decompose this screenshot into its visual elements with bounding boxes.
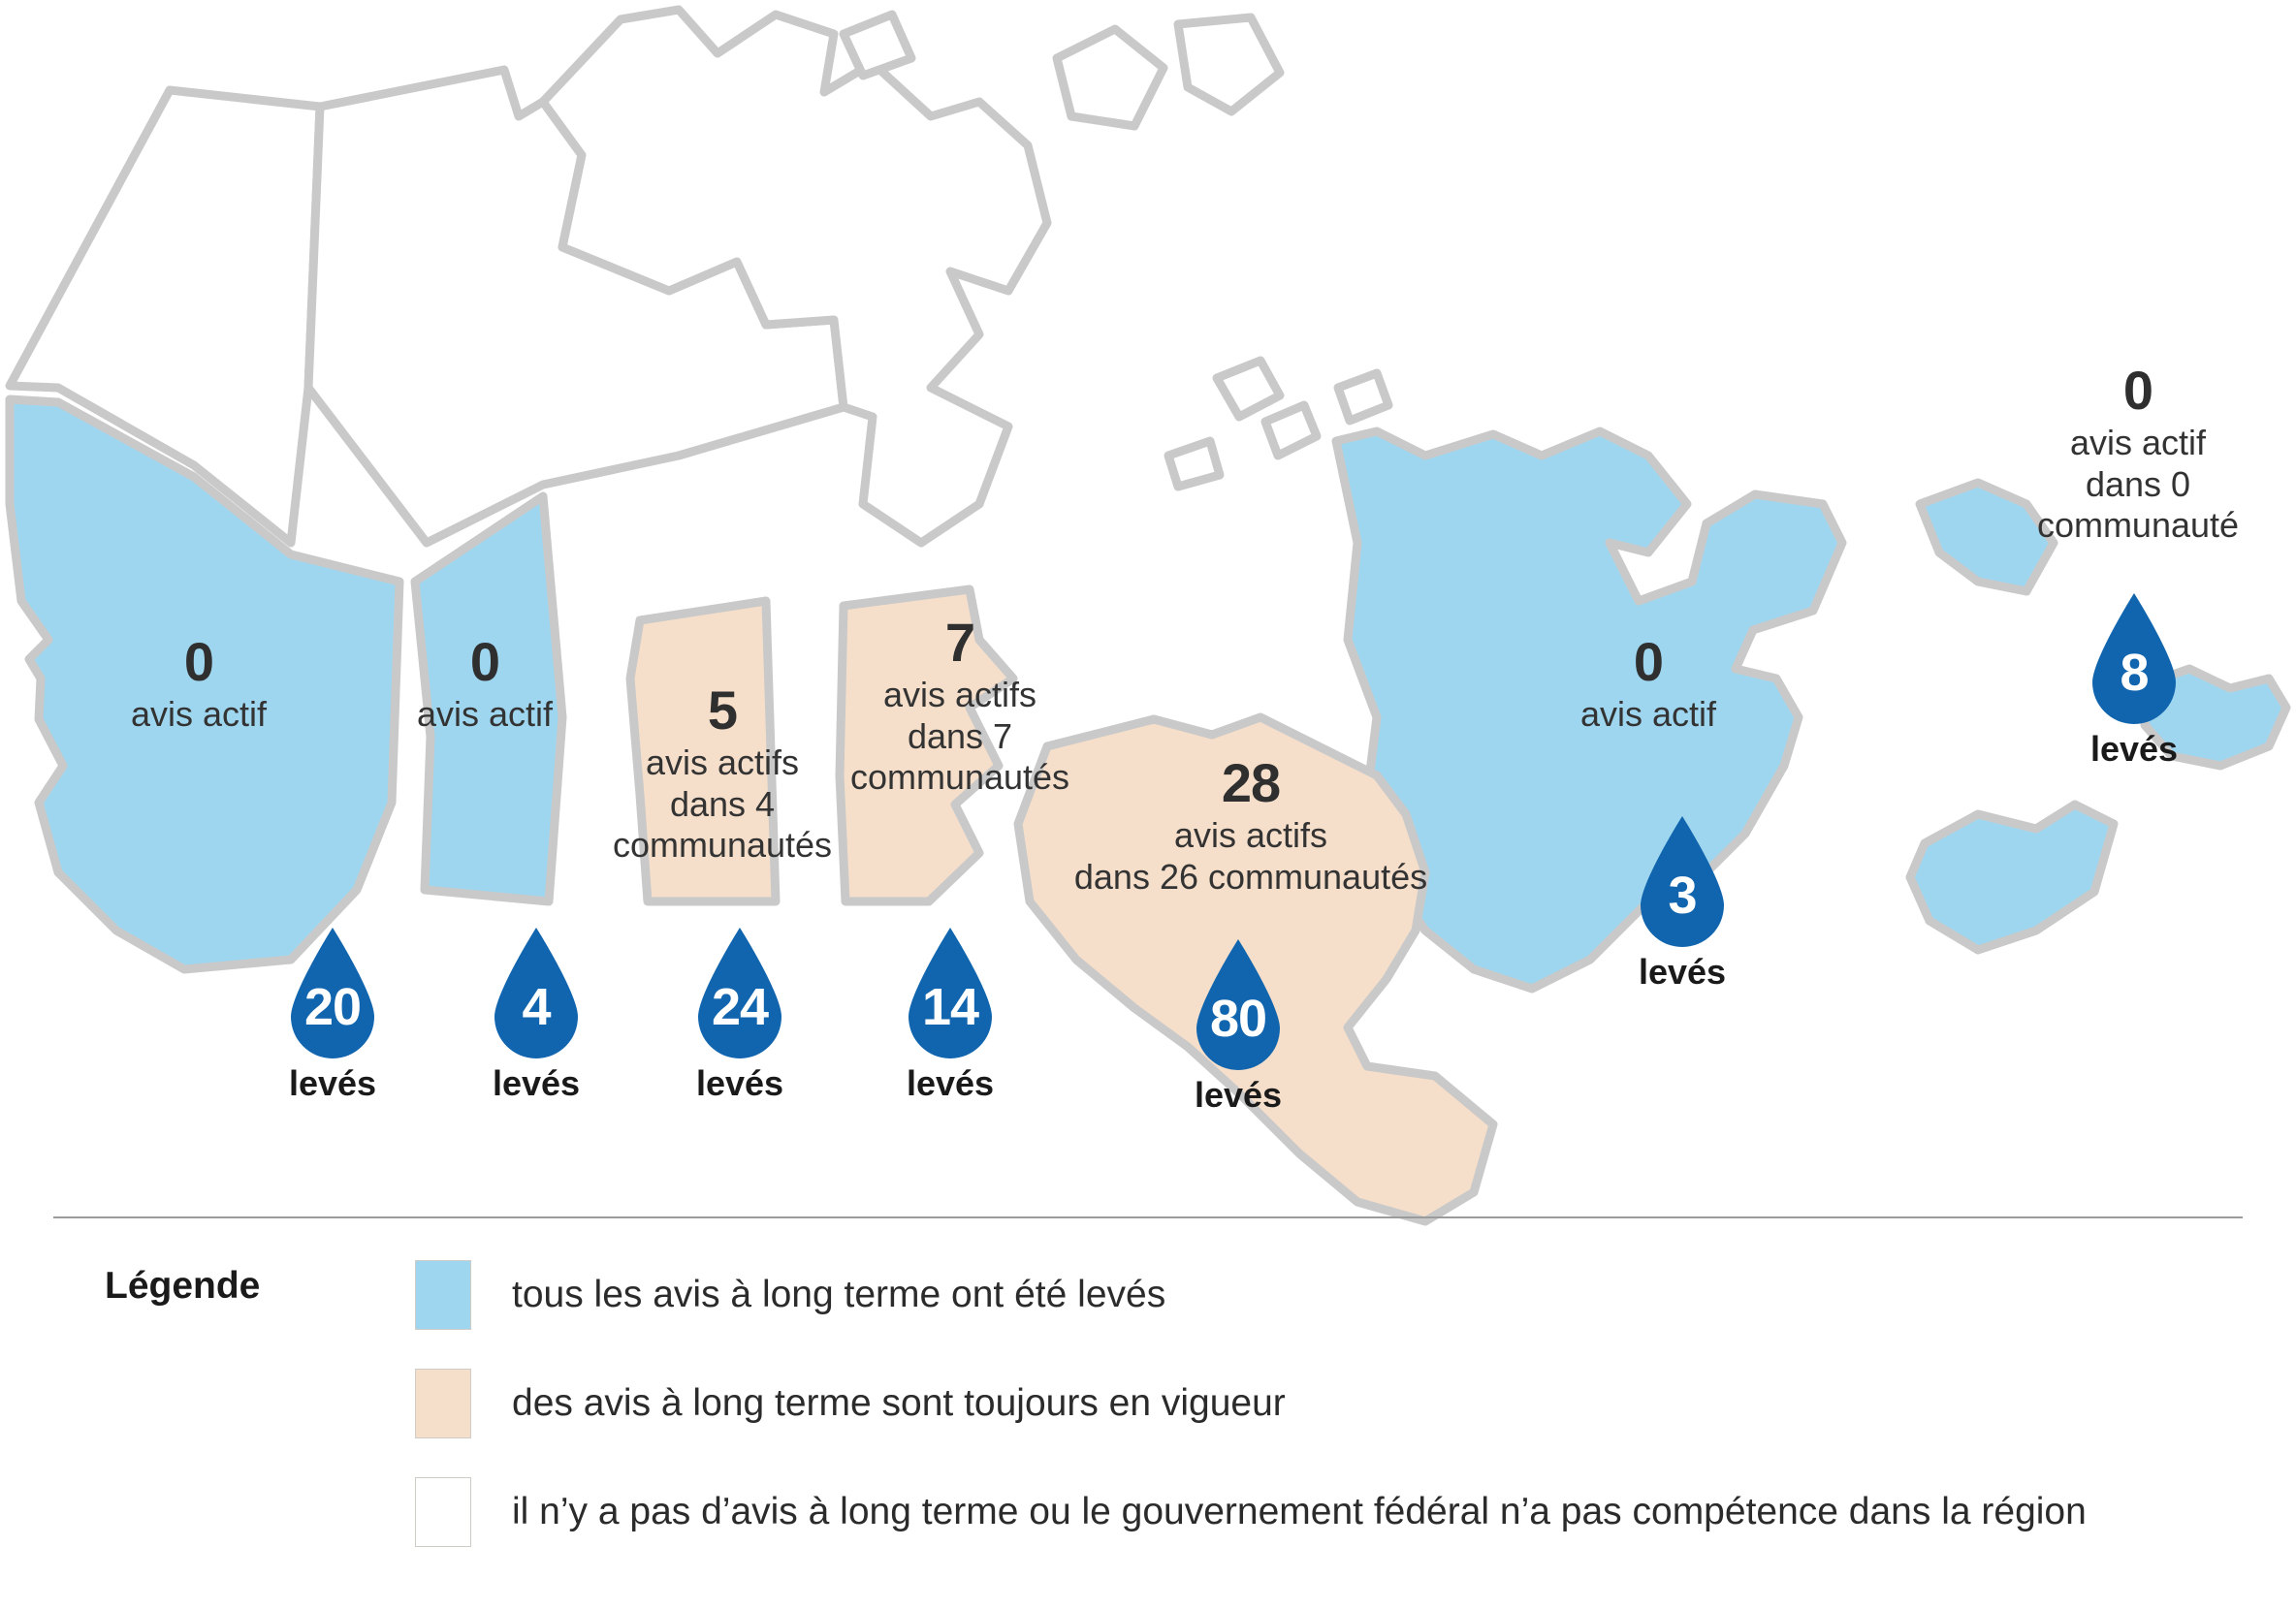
water-drop-icon: 24: [686, 924, 793, 1061]
region-alberta-spacer: [415, 496, 562, 901]
water-drop-icon: 3: [1629, 812, 1736, 950]
region-nunavut-island-f: [1338, 373, 1388, 421]
region-nunavut-island-g: [1168, 441, 1220, 487]
mb-lifted-count: 14: [897, 924, 1004, 1061]
droplet-marker-manitoba: 14 levés: [897, 924, 1004, 1104]
region-nunavut-island-e: [1265, 405, 1317, 456]
water-drop-icon: 80: [1185, 935, 1291, 1073]
region-british-columbia: [10, 399, 399, 969]
region-maritimes: [1910, 805, 2114, 950]
legend-item-resolved: tous les avis à long terme ont été levés: [415, 1260, 1165, 1330]
legend-item-active: des avis à long terme sont toujours en v…: [415, 1369, 1286, 1438]
ab-lifted-label: levés: [483, 1063, 590, 1104]
legend-label-none: il n’y a pas d’avis à long terme ou le g…: [512, 1491, 2087, 1533]
legend-item-none: il n’y a pas d’avis à long terme ou le g…: [415, 1477, 2087, 1547]
bc-lifted-count: 20: [279, 924, 386, 1061]
droplet-marker-quebec: 3 levés: [1629, 812, 1736, 993]
legend-swatch-none: [415, 1477, 471, 1547]
on-lifted-label: levés: [1185, 1075, 1291, 1116]
region-nunavut-island-b: [1178, 17, 1280, 111]
sk-lifted-label: levés: [686, 1063, 793, 1104]
water-drop-icon: 14: [897, 924, 1004, 1061]
region-manitoba: [840, 589, 1013, 901]
legend-divider: [53, 1216, 2243, 1218]
atl-lifted-label: levés: [2081, 729, 2187, 770]
sk-lifted-count: 24: [686, 924, 793, 1061]
water-drop-icon: 20: [279, 924, 386, 1061]
qc-lifted-label: levés: [1629, 952, 1736, 993]
on-lifted-count: 80: [1185, 935, 1291, 1073]
water-drop-icon: 8: [2081, 589, 2187, 727]
bc-lifted-label: levés: [279, 1063, 386, 1104]
region-saskatchewan: [630, 601, 776, 901]
region-labrador: [1920, 483, 2054, 591]
region-nunavut-island-a: [1057, 29, 1164, 126]
region-nunavut-island-c: [844, 15, 911, 76]
atl-lifted-count: 8: [2081, 589, 2187, 727]
mb-lifted-label: levés: [897, 1063, 1004, 1104]
droplet-marker-alberta: 4 levés: [483, 924, 590, 1104]
qc-lifted-count: 3: [1629, 812, 1736, 950]
water-drop-icon: 4: [483, 924, 590, 1061]
legend-title: Légende: [105, 1265, 260, 1308]
droplet-marker-british-columbia: 20 levés: [279, 924, 386, 1104]
region-nunavut-island-d: [1217, 361, 1280, 417]
legend-label-active: des avis à long terme sont toujours en v…: [512, 1382, 1286, 1425]
legend-swatch-active: [415, 1369, 471, 1438]
droplet-marker-ontario: 80 levés: [1185, 935, 1291, 1116]
droplet-marker-atlantic: 8 levés: [2081, 589, 2187, 770]
legend-swatch-resolved: [415, 1260, 471, 1330]
legend-label-resolved: tous les avis à long terme ont été levés: [512, 1274, 1165, 1316]
droplet-marker-saskatchewan: 24 levés: [686, 924, 793, 1104]
ab-lifted-count: 4: [483, 924, 590, 1061]
